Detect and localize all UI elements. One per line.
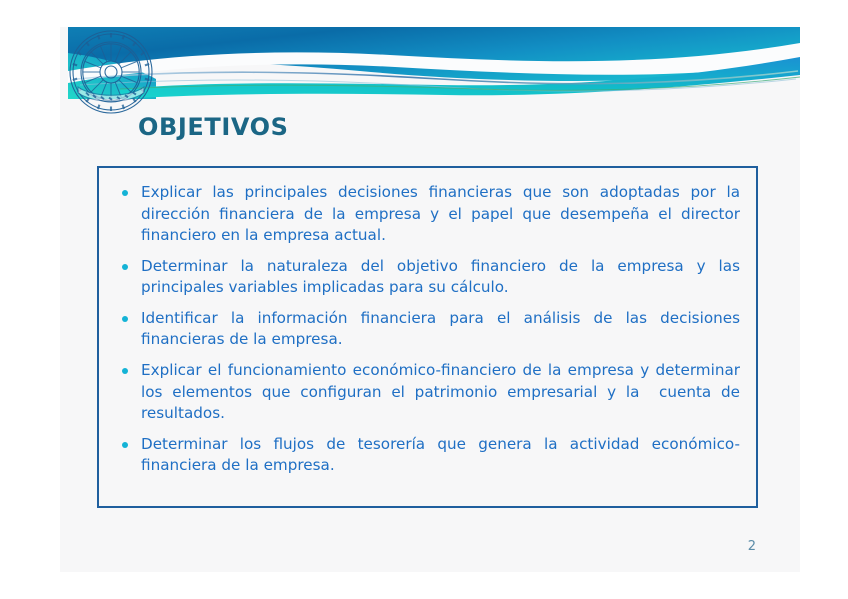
objectives-box: Explicar las principales decisiones fina… <box>97 166 758 508</box>
list-item: Identificar la información financiera pa… <box>113 308 740 351</box>
wave-banner-graphic <box>60 27 800 107</box>
page-number: 2 <box>748 539 756 554</box>
list-item: Determinar la naturaleza del objetivo fi… <box>113 256 740 299</box>
page-title: OBJETIVOS <box>138 113 289 141</box>
objectives-list: Explicar las principales decisiones fina… <box>99 168 756 477</box>
list-item: Explicar el funcionamiento económico-fin… <box>113 360 740 425</box>
slide-surface: OBJETIVOS Explicar las principales decis… <box>60 27 800 572</box>
list-item: Determinar los flujos de tesorería que g… <box>113 434 740 477</box>
header-wave-banner <box>60 27 800 107</box>
list-item: Explicar las principales decisiones fina… <box>113 182 740 247</box>
